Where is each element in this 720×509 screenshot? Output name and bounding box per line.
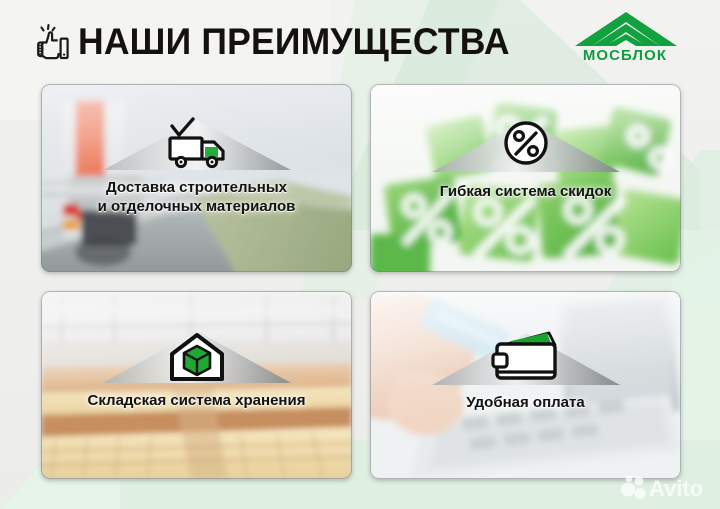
svg-text:Avito: Avito	[649, 476, 703, 500]
card-label-line1: Гибкая система скидок	[376, 182, 675, 201]
advantage-card-delivery[interactable]: Доставка строительных и отделочных матер…	[41, 84, 352, 272]
card-label-discounts: Гибкая система скидок	[376, 182, 675, 201]
delivery-truck-icon	[102, 116, 292, 174]
logo-wordmark: МОСБЛОК	[564, 48, 686, 64]
thumbs-up-icon	[30, 22, 74, 66]
card-label-delivery: Доставка строительных и отделочных матер…	[47, 178, 346, 216]
advantage-card-discounts[interactable]: Гибкая система скидок	[370, 84, 681, 272]
page-title: НАШИ ПРЕИМУЩЕСТВА	[78, 19, 510, 65]
warehouse-box-icon	[102, 327, 292, 387]
percent-circle-icon	[431, 114, 621, 176]
promo-banner: НАШИ ПРЕИМУЩЕСТВА МОСБЛОК	[0, 0, 720, 509]
card-label-payment: Удобная оплата	[376, 393, 675, 412]
card-label-line1: Доставка строительных	[47, 178, 346, 197]
advantage-card-payment[interactable]: Удобная оплата	[370, 291, 681, 479]
avito-watermark: Avito	[620, 474, 712, 500]
mosblok-roof-icon	[574, 11, 678, 49]
advantages-grid: Доставка строительных и отделочных матер…	[41, 84, 681, 479]
brand-logo: МОСБЛОК	[566, 11, 684, 69]
card-label-line1: Удобная оплата	[376, 393, 675, 412]
card-label-storage: Складская система хранения	[47, 391, 346, 410]
wallet-icon	[431, 327, 621, 389]
card-label-line2: и отделочных материалов	[47, 197, 346, 216]
card-label-line1: Складская система хранения	[47, 391, 346, 410]
card-photo-percent-cubes	[370, 84, 681, 272]
advantage-card-storage[interactable]: Складская система хранения	[41, 291, 352, 479]
